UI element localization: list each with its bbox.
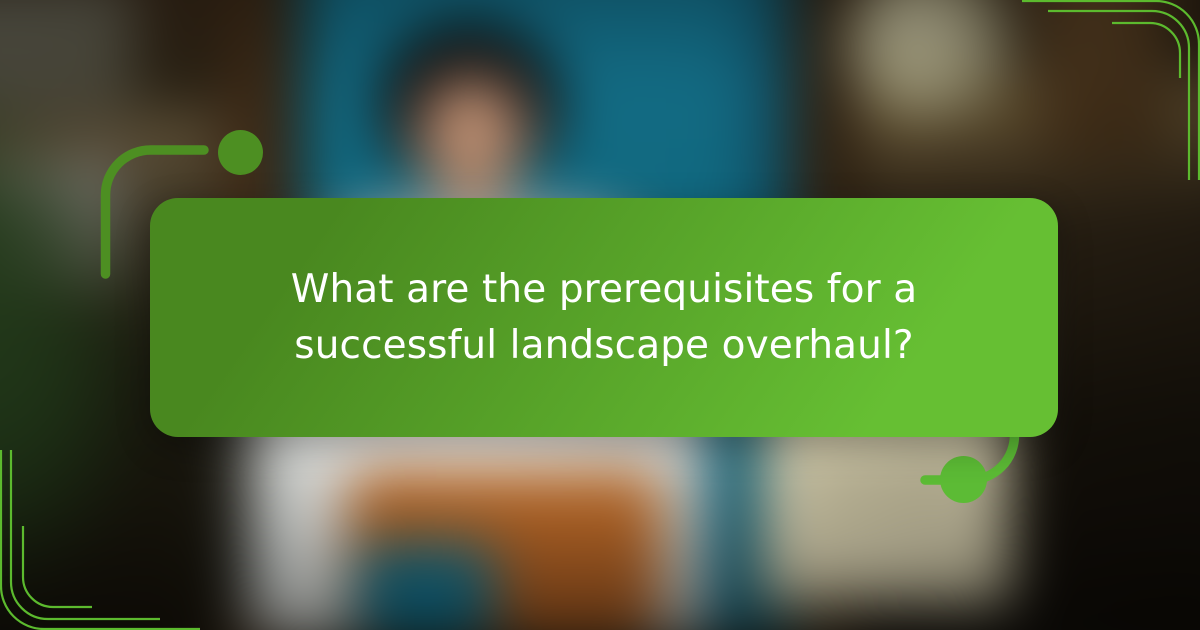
social-card-canvas: What are the prerequisites for a success… [0,0,1200,630]
corner-line-frame-bottom-left [0,450,200,630]
accent-dot-bottom-right [940,456,987,503]
corner-line-frame-top-right [1000,0,1200,180]
question-card: What are the prerequisites for a success… [150,198,1058,437]
question-text: What are the prerequisites for a success… [234,262,974,374]
accent-dot-top-left [218,130,263,175]
